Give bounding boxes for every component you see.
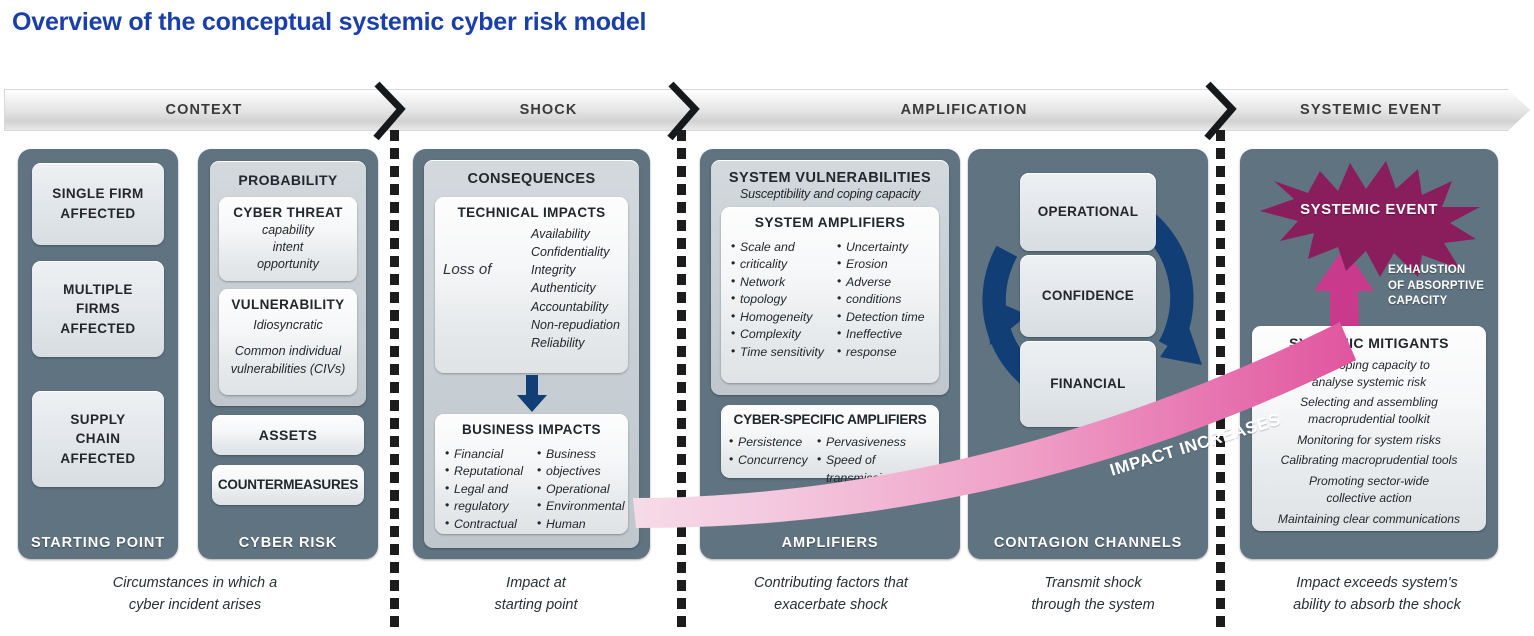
card-channel-operational[interactable]: OPERATIONAL (1020, 173, 1156, 251)
card-label: SUPPLY CHAIN AFFECTED (60, 410, 135, 469)
card-business-impacts[interactable]: BUSINESS IMPACTS Financial Reputational … (435, 414, 628, 534)
system-amplifier-item: Ineffective (837, 326, 937, 343)
panel-footer-contagion-channels: CONTAGION CHANNELS (968, 535, 1208, 551)
business-impact-item: Human (537, 516, 629, 533)
caption-systemic-event: Impact exceeds system's ability to absor… (1232, 572, 1522, 617)
caption-contagion: Transmit shock through the system (978, 572, 1208, 617)
group-consequences: CONSEQUENCES TECHNICAL IMPACTS Loss of A… (424, 160, 639, 548)
mitigant-item: Developing capacity to analyse systemic … (1252, 357, 1486, 390)
phase-label-amplification: AMPLIFICATION (694, 89, 1234, 131)
system-amplifier-item: Network (731, 274, 827, 291)
technical-impacts-title: TECHNICAL IMPACTS (435, 205, 628, 220)
card-system-amplifiers[interactable]: SYSTEM AMPLIFIERS Scale and criticality … (721, 207, 939, 383)
cyber-specific-amplifiers-title: CYBER-SPECIFIC AMPLIFIERS (721, 412, 939, 427)
exhaustion-label-line-3: CAPACITY (1388, 294, 1484, 310)
vulnerability-line-2: Common individual (219, 342, 357, 360)
technical-impact-item: Reliability (531, 334, 620, 352)
cyber-threat-item: opportunity (219, 256, 357, 273)
system-amplifier-item-cont: topology (731, 291, 827, 308)
mitigant-item: Maintaining clear communications (1252, 511, 1486, 528)
panel-systemic-event: SYSTEMIC EVENT EXHAUSTION OF ABSORPTIVE … (1240, 149, 1498, 559)
system-amplifier-item: Detection time (837, 309, 937, 326)
panel-contagion-channels: OPERATIONAL CONFIDENCE FINANCIAL CONTAGI… (968, 149, 1208, 559)
business-impact-item-cont: objectives (537, 463, 629, 480)
business-impact-item: Legal and (445, 481, 531, 498)
business-impact-item: Contractual (445, 516, 531, 533)
channel-label: OPERATIONAL (1020, 173, 1156, 251)
system-amplifier-item-cont: criticality (731, 256, 827, 273)
card-label: SINGLE FIRM AFFECTED (52, 184, 143, 223)
system-vulnerabilities-title: SYSTEM VULNERABILITIES (711, 170, 949, 186)
mitigant-item: Selecting and assembling macroprudential… (1252, 394, 1486, 427)
mitigant-item: Calibrating macroprudential tools (1252, 452, 1486, 469)
card-single-firm-affected[interactable]: SINGLE FIRM AFFECTED (32, 163, 164, 245)
exhaustion-label-line-1: EXHAUSTION (1388, 263, 1484, 279)
caption-shock: Impact at starting point (400, 572, 672, 617)
card-systemic-mitigants[interactable]: SYSTEMIC MITIGANTS Developing capacity t… (1252, 326, 1486, 531)
cyber-threat-item: capability (219, 222, 357, 239)
systemic-mitigants-title: SYSTEMIC MITIGANTS (1252, 335, 1486, 351)
card-vulnerability[interactable]: VULNERABILITY Idiosyncratic Common indiv… (219, 289, 357, 395)
cyber-specific-item: Persistence (729, 434, 813, 452)
card-assets[interactable]: ASSETS (212, 415, 364, 455)
group-probability: PROBABILITY CYBER THREAT capability inte… (210, 161, 366, 406)
cyber-specific-item: Concurrency (729, 452, 813, 470)
system-amplifier-item: Uncertainty (837, 239, 937, 256)
card-supply-chain-affected[interactable]: SUPPLY CHAIN AFFECTED (32, 391, 164, 487)
business-impacts-title: BUSINESS IMPACTS (435, 422, 628, 437)
mitigant-item: Promoting sector-wide collective action (1252, 473, 1486, 506)
technical-impact-item: Availability (531, 225, 620, 243)
card-label: MULTIPLE FIRMS AFFECTED (60, 280, 135, 339)
page-title: Overview of the conceptual systemic cybe… (12, 8, 1212, 37)
card-cyber-specific-amplifiers[interactable]: CYBER-SPECIFIC AMPLIFIERS Persistence Co… (721, 405, 939, 478)
phase-label-shock: SHOCK (406, 89, 691, 131)
phase-banner: CONTEXT SHOCK AMPLIFICATION SYSTEMIC EVE… (4, 89, 1530, 131)
system-amplifier-item-cont: response (837, 344, 937, 361)
countermeasures-label: COUNTERMEASURES (212, 465, 364, 505)
system-amplifiers-title: SYSTEM AMPLIFIERS (721, 215, 939, 230)
cyber-threat-title: CYBER THREAT (219, 205, 357, 220)
system-vulnerabilities-subtitle: Susceptibility and coping capacity (711, 187, 949, 201)
card-channel-financial[interactable]: FINANCIAL (1020, 341, 1156, 427)
business-impact-item-cont: regulatory (445, 498, 531, 515)
panel-footer-amplifiers: AMPLIFIERS (700, 535, 960, 551)
business-impact-item: Operational (537, 481, 629, 498)
channel-label: CONFIDENCE (1020, 255, 1156, 337)
technical-impact-item: Accountability (531, 298, 620, 316)
probability-title: PROBABILITY (210, 172, 366, 188)
systemic-event-burst-icon (1254, 159, 1484, 279)
channel-label: FINANCIAL (1020, 341, 1156, 427)
system-amplifier-item: Homogeneity (731, 309, 827, 326)
system-amplifier-item: Scale and (731, 239, 827, 256)
vulnerability-line-1: Idiosyncratic (219, 316, 357, 334)
technical-impact-item: Integrity (531, 261, 620, 279)
business-impact-item: Business (537, 446, 629, 463)
panel-amplifiers: SYSTEM VULNERABILITIES Susceptibility an… (700, 149, 960, 559)
business-impact-item: Reputational (445, 463, 531, 480)
loss-of-label: Loss of (443, 261, 491, 278)
phase-label-context: CONTEXT (4, 89, 404, 131)
card-channel-confidence[interactable]: CONFIDENCE (1020, 255, 1156, 337)
system-amplifier-item: Erosion (837, 256, 937, 273)
systemic-event-burst-label: SYSTEMIC EVENT (1254, 201, 1484, 218)
cyber-threat-item: intent (219, 239, 357, 256)
vulnerability-title: VULNERABILITY (219, 297, 357, 312)
exhaustion-label-line-2: OF ABSORPTIVE (1388, 279, 1484, 295)
cyber-specific-item: Speed of transmission (817, 452, 941, 488)
card-technical-impacts[interactable]: TECHNICAL IMPACTS Loss of Availability C… (435, 197, 628, 373)
caption-context: Circumstances in which a cyber incident … (0, 572, 390, 617)
panel-starting-point: SINGLE FIRM AFFECTED MULTIPLE FIRMS AFFE… (18, 149, 178, 559)
panel-consequences: CONSEQUENCES TECHNICAL IMPACTS Loss of A… (413, 149, 650, 559)
caption-amplifiers: Contributing factors that exacerbate sho… (686, 572, 976, 617)
panel-footer-starting-point: STARTING POINT (18, 535, 178, 551)
card-cyber-threat[interactable]: CYBER THREAT capability intent opportuni… (219, 197, 357, 281)
technical-impact-item: Non-repudiation (531, 316, 620, 334)
phase-label-systemic-event: SYSTEMIC EVENT (1236, 89, 1506, 131)
technical-impact-item: Authenticity (531, 279, 620, 297)
assets-label: ASSETS (212, 415, 364, 455)
business-impact-item: Financial (445, 446, 531, 463)
system-amplifier-item: Complexity (731, 326, 827, 343)
panel-footer-cyber-risk: CYBER RISK (198, 535, 378, 551)
mitigant-item: Monitoring for system risks (1252, 432, 1486, 449)
cyber-specific-item: Pervasiveness (817, 434, 941, 452)
panel-cyber-risk: PROBABILITY CYBER THREAT capability inte… (198, 149, 378, 559)
technical-impact-item: Confidentiality (531, 243, 620, 261)
card-multiple-firms-affected[interactable]: MULTIPLE FIRMS AFFECTED (32, 261, 164, 357)
system-amplifier-item-cont: conditions (837, 291, 937, 308)
group-system-vulnerabilities: SYSTEM VULNERABILITIES Susceptibility an… (711, 160, 949, 395)
vulnerability-line-3: vulnerabilities (CIVs) (219, 360, 357, 378)
down-arrow-icon (516, 375, 548, 413)
card-countermeasures[interactable]: COUNTERMEASURES (212, 465, 364, 505)
system-amplifier-item: Time sensitivity (731, 344, 827, 361)
system-amplifier-item: Adverse (837, 274, 937, 291)
consequences-title: CONSEQUENCES (424, 171, 639, 187)
business-impact-item: Environmental (537, 498, 629, 515)
